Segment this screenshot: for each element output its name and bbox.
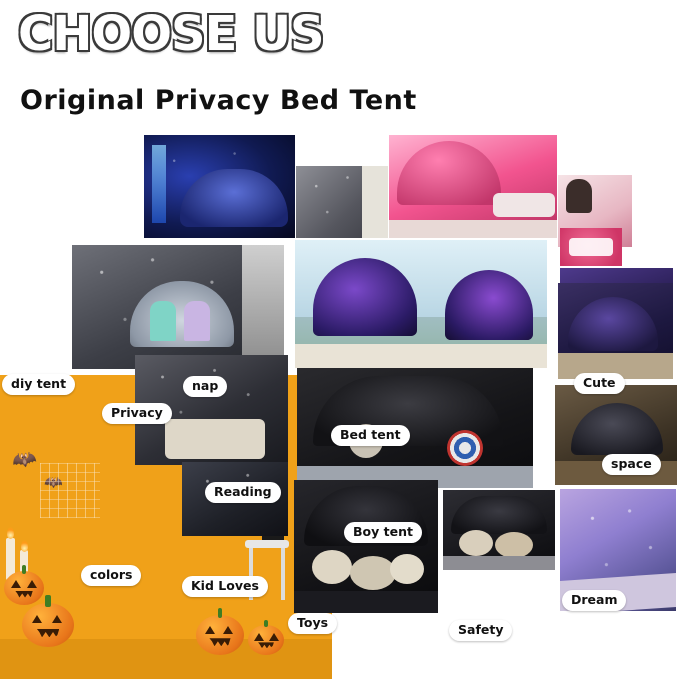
label-privacy[interactable]: Privacy (102, 403, 172, 424)
photo-blue-galaxy-room (144, 135, 295, 238)
page-subhead: Original Privacy Bed Tent (20, 85, 417, 116)
photo-kids-in-tent (72, 245, 284, 369)
photo-tent-stuffed-animals (443, 490, 555, 570)
label-dream[interactable]: Dream (562, 590, 626, 611)
page-headline: CHOOSE US (18, 10, 324, 58)
photo-pink-tent-bed (389, 135, 557, 238)
pumpkin-face (4, 571, 44, 605)
photo-black-tent-plush (294, 480, 438, 613)
pumpkin-face (196, 615, 244, 655)
pumpkin-face (248, 625, 284, 655)
photo-black-tent-pillow (558, 283, 673, 379)
spider-web-decoration (40, 463, 100, 518)
pumpkin-decoration (248, 625, 284, 655)
pumpkin-decoration (196, 615, 244, 655)
label-bed-tent[interactable]: Bed tent (331, 425, 410, 446)
label-nap[interactable]: nap (183, 376, 227, 397)
label-kid-loves[interactable]: Kid Loves (182, 576, 268, 597)
label-cute[interactable]: Cute (574, 373, 625, 394)
promo-infographic: CHOOSE US Original Privacy Bed Tent 🦇 🦇 (0, 0, 679, 679)
pumpkin-face (22, 603, 74, 647)
label-diy-tent[interactable]: diy tent (2, 374, 75, 395)
label-boy-tent[interactable]: Boy tent (344, 522, 422, 543)
label-safety[interactable]: Safety (449, 620, 512, 641)
label-colors[interactable]: colors (81, 565, 141, 586)
photo-privacy-pop-logo (560, 228, 622, 266)
pumpkin-decoration (4, 571, 44, 605)
candle-flame-icon (7, 527, 14, 539)
label-toys[interactable]: Toys (288, 613, 337, 634)
candle-flame-icon (21, 540, 28, 552)
photo-galaxy-bunk-tents (295, 240, 547, 368)
label-space[interactable]: space (602, 454, 661, 475)
photo-grey-star-tent-shelf (296, 166, 388, 238)
bat-icon: 🦇 (10, 448, 38, 472)
label-reading[interactable]: Reading (205, 482, 281, 503)
pumpkin-decoration (22, 603, 74, 647)
